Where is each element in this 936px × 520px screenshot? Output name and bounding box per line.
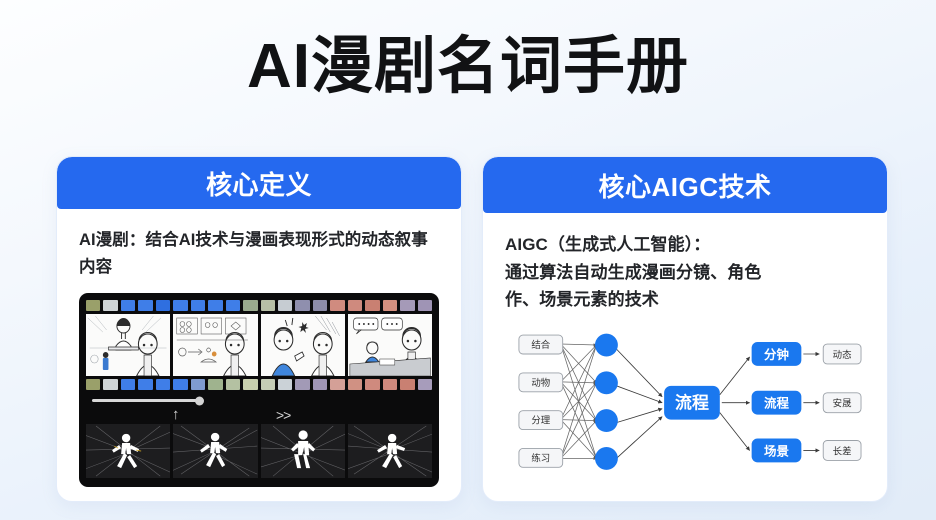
slider-knob[interactable] <box>195 396 204 405</box>
slider-track[interactable] <box>92 399 200 402</box>
card-core-aigc-tech: 核心AIGC技术 AIGC（生成式人工智能）： 通过算法自动生成漫画分镜、角色 … <box>482 156 888 502</box>
hidden-node <box>595 447 618 470</box>
motion-frame-row <box>86 424 432 478</box>
diagram-branch-label: 分钟 <box>764 347 789 362</box>
motion-frame <box>261 424 345 478</box>
aigc-text-line-2: 通过算法自动生成漫画分镜、角色 <box>505 259 865 287</box>
hidden-node <box>595 333 618 356</box>
timeline-marks: ↑ >> <box>86 409 432 424</box>
comic-panel <box>173 314 257 376</box>
diagram-center-node: 流程 <box>664 385 720 419</box>
card-container: 核心定义 AI漫剧：结合AI技术与漫画表现形式的动态叙事内容 <box>56 156 888 502</box>
diagram-hidden-nodes <box>595 333 618 469</box>
filmstrip-sprockets-bottom <box>86 379 432 390</box>
network-diagram-visual: 结合 动物 分理 练习 <box>505 324 865 487</box>
hidden-node <box>595 371 618 394</box>
diagram-branch-nodes: 分钟 流程 场景 <box>752 342 802 462</box>
timeline-slider[interactable] <box>86 393 432 409</box>
comic-panel <box>348 314 432 376</box>
diagram-branch-label: 流程 <box>764 395 789 410</box>
comic-panel-row <box>86 314 432 376</box>
card-body-core-aigc-tech: AIGC（生成式人工智能）： 通过算法自动生成漫画分镜、角色 作、场景元素的技术 <box>483 213 887 501</box>
filmstrip-sprockets-top <box>86 300 432 311</box>
diagram-input-label: 结合 <box>531 339 550 351</box>
definition-text: AI漫剧：结合AI技术与漫画表现形式的动态叙事内容 <box>79 227 439 280</box>
diagram-input-label: 练习 <box>531 452 550 464</box>
diagram-branch-label: 场景 <box>764 444 789 458</box>
page-title: AI漫剧名词手册 <box>0 34 936 101</box>
diagram-input-nodes: 结合 动物 分理 练习 <box>519 335 563 467</box>
diagram-output-label: 安晟 <box>833 397 852 409</box>
fast-forward-icon: >> <box>276 407 290 423</box>
diagram-output-label: 动态 <box>833 349 852 361</box>
card-header-core-definition: 核心定义 <box>57 157 461 209</box>
motion-frame <box>348 424 432 478</box>
aigc-text-line-3: 作、场景元素的技术 <box>505 286 865 314</box>
card-header-core-aigc-tech: 核心AIGC技术 <box>483 157 887 213</box>
aigc-text-line-1: AIGC（生成式人工智能）： <box>505 231 865 259</box>
diagram-output-nodes: 动态 安晟 长差 <box>823 344 861 460</box>
motion-frame <box>86 424 170 478</box>
card-body-core-definition: AI漫剧：结合AI技术与漫画表现形式的动态叙事内容 <box>57 209 461 501</box>
card-core-definition: 核心定义 AI漫剧：结合AI技术与漫画表现形式的动态叙事内容 <box>56 156 462 502</box>
motion-frame <box>173 424 257 478</box>
hidden-node <box>595 409 618 432</box>
diagram-input-label: 分理 <box>531 415 550 426</box>
up-arrow-icon: ↑ <box>172 406 180 423</box>
filmstrip-visual: ↑ >> <box>79 293 439 487</box>
comic-panel <box>261 314 345 376</box>
comic-panel <box>86 314 170 376</box>
diagram-output-label: 长差 <box>833 445 852 457</box>
diagram-input-label: 动物 <box>531 376 550 388</box>
diagram-center-label: 流程 <box>675 392 709 412</box>
